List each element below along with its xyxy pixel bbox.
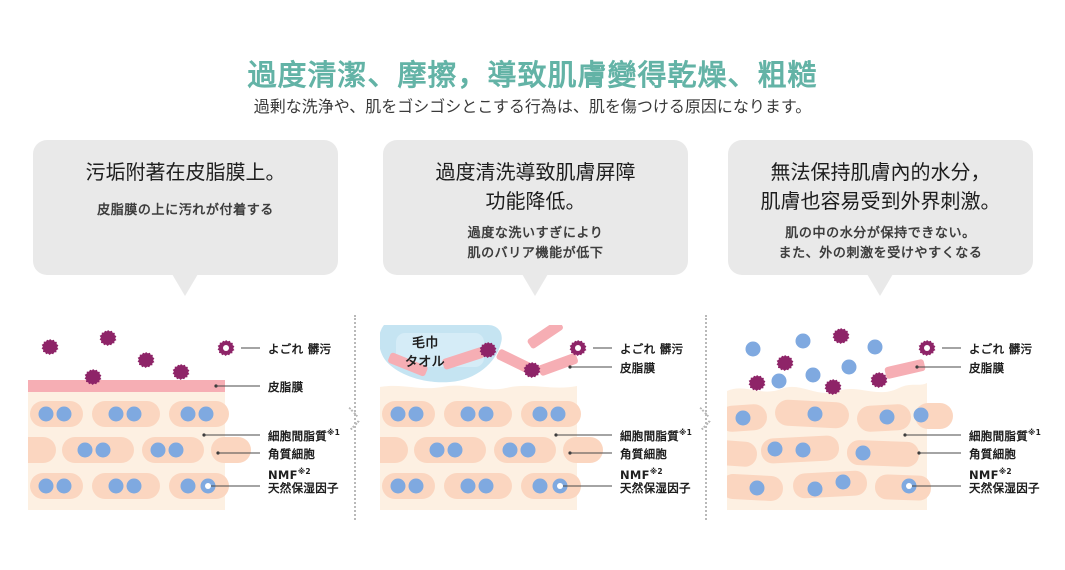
card-2-bubble: 過度清洗導致肌膚屏障 功能降低。 過度な洗いすぎにより 肌のバリア機能が低下	[383, 140, 688, 275]
legend-lipid-label-2: 細胞間脂質※1	[620, 428, 692, 444]
diagram-panel-3: よごれ 髒污 皮脂膜 細胞間脂質※1 角質細胞 NMF※2 天然保湿因子	[727, 325, 1052, 525]
card-1-spacer	[33, 187, 338, 201]
card-3-zh-line2: 肌膚也容易受到外界刺激。	[728, 187, 1033, 216]
legend-lipid-label-3: 細胞間脂質※1	[969, 428, 1041, 444]
diagram-panel-2: 毛巾 タオル よごれ 髒污 皮脂膜 細胞間脂質※1 角質細胞 NMF※2 天然保…	[380, 325, 700, 525]
divider-1	[348, 315, 362, 520]
legend-nmf-full-2: 天然保湿因子	[620, 480, 691, 496]
card-2-spacer	[383, 216, 688, 224]
legend-sebum-label-1: 皮脂膜	[268, 379, 303, 395]
legend-nmf-note-2: ※2	[650, 467, 663, 476]
page-subtitle: 過剰な洗浄や、肌をゴシゴシとこする行為は、肌を傷つける原因になります。	[0, 93, 1065, 117]
card-1-zh-line1: 污垢附著在皮脂膜上。	[33, 158, 338, 187]
towel-label-zh: 毛巾	[412, 332, 439, 351]
card-2-bubble-tail	[522, 274, 548, 296]
legend-nmf-note-1: ※2	[298, 467, 311, 476]
divider-2	[699, 315, 713, 520]
card-1-ja-line1: 皮脂膜の上に汚れが付着する	[33, 201, 338, 221]
page-title: 過度清潔、摩擦，導致肌膚變得乾燥、粗糙	[0, 52, 1065, 94]
legend-dirt-label-3: よごれ 髒污	[969, 341, 1032, 357]
card-3-ja-line1: 肌の中の水分が保持できない。	[728, 224, 1033, 244]
towel-label-ja: タオル	[405, 351, 445, 370]
legend-nmf-note-3: ※2	[999, 467, 1012, 476]
infographic-canvas: 過度清潔、摩擦，導致肌膚變得乾燥、粗糙 過剰な洗浄や、肌をゴシゴシとこする行為は…	[0, 0, 1065, 570]
legend-corneocyte-label-1: 角質細胞	[268, 446, 315, 462]
legend-nmf-full-1: 天然保湿因子	[268, 480, 339, 496]
card-3-zh-line1: 無法保持肌膚內的水分，	[728, 158, 1033, 187]
legend-dirt-label-1: よごれ 髒污	[268, 341, 331, 357]
legend-lipid-text-2: 細胞間脂質	[620, 429, 679, 443]
card-2-zh-line2: 功能降低。	[383, 187, 688, 216]
legend-nmf-full-3: 天然保湿因子	[969, 480, 1040, 496]
legend-lipid-text-3: 細胞間脂質	[969, 429, 1028, 443]
legend-lipid-note-2: ※1	[679, 428, 692, 437]
diagram-panel-1: よごれ 髒污 皮脂膜 細胞間脂質※1 角質細胞 NMF※2 天然保湿因子	[28, 325, 348, 525]
legend-corneocyte-label-3: 角質細胞	[969, 446, 1016, 462]
card-3-bubble-tail	[867, 274, 893, 296]
legend-lipid-text-1: 細胞間脂質	[268, 429, 327, 443]
card-3-spacer	[728, 216, 1033, 224]
card-1-bubble-tail	[172, 274, 198, 296]
card-1-bubble: 污垢附著在皮脂膜上。 皮脂膜の上に汚れが付着する	[33, 140, 338, 275]
divider-1-chevron-icon	[350, 407, 361, 429]
legend-sebum-label-3: 皮脂膜	[969, 360, 1004, 376]
divider-2-chevron-icon	[701, 407, 712, 429]
card-3-ja-line2: また、外の刺激を受けやすくなる	[728, 244, 1033, 264]
legend-sebum-label-2: 皮脂膜	[620, 360, 655, 376]
card-2-ja-line2: 肌のバリア機能が低下	[383, 244, 688, 264]
legend-lipid-note-1: ※1	[327, 428, 340, 437]
legend-lipid-note-3: ※1	[1028, 428, 1041, 437]
legend-lipid-label-1: 細胞間脂質※1	[268, 428, 340, 444]
card-2-zh-line1: 過度清洗導致肌膚屏障	[383, 158, 688, 187]
card-2-ja-line1: 過度な洗いすぎにより	[383, 224, 688, 244]
legend-dirt-label-2: よごれ 髒污	[620, 341, 683, 357]
legend-corneocyte-label-2: 角質細胞	[620, 446, 667, 462]
card-3-bubble: 無法保持肌膚內的水分， 肌膚也容易受到外界刺激。 肌の中の水分が保持できない。 …	[728, 140, 1033, 275]
